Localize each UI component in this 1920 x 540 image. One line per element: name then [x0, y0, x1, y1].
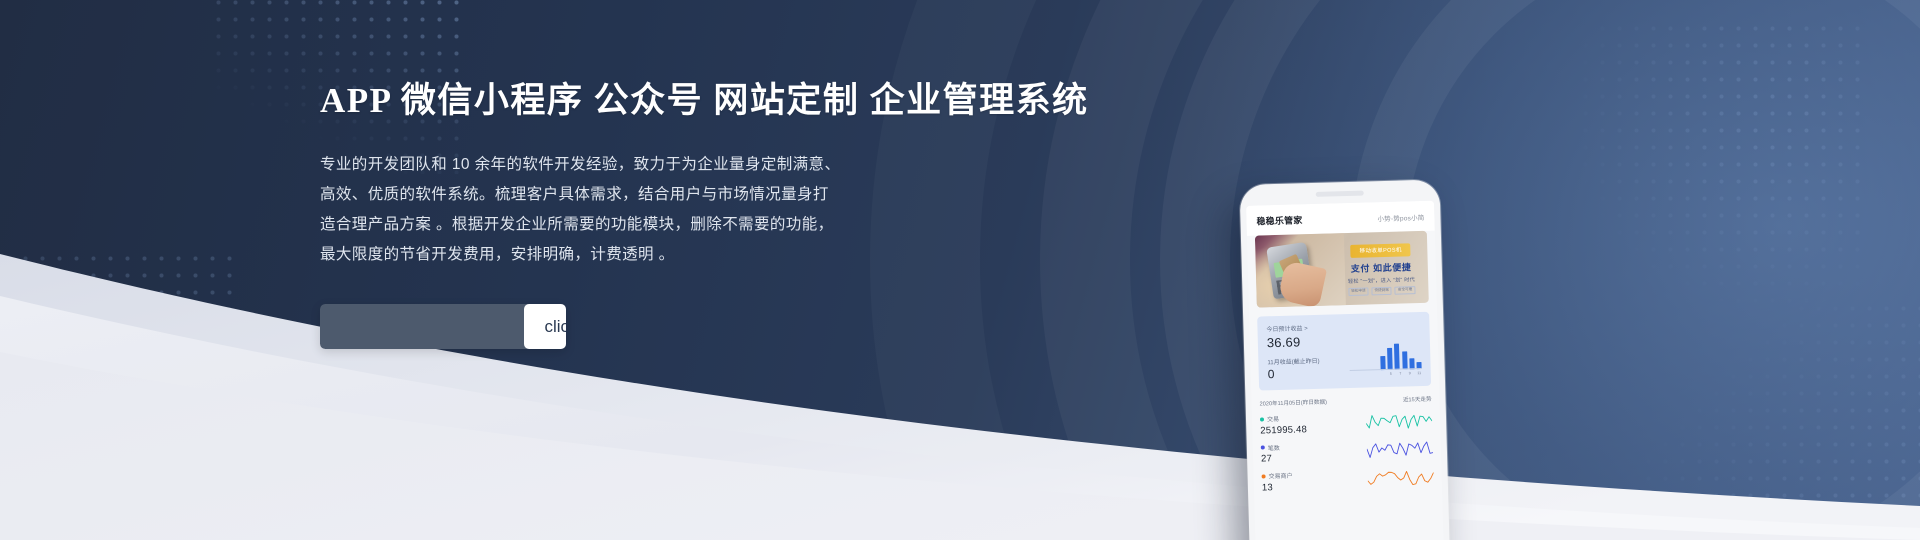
page-title: APP 微信小程序 公众号 网站定制 企业管理系统	[320, 72, 980, 123]
banner-subline: 轻松 "一划"，进入 "划" 时代	[1341, 275, 1423, 284]
stat-value: 27	[1261, 453, 1280, 465]
banner-chip: 轻松申请	[1348, 287, 1369, 296]
earnings-card[interactable]: 今日预计收益 > 36.69 11月收益(截止昨日) 0 57911	[1257, 312, 1431, 391]
stats-trend-label: 近15天走势	[1403, 395, 1432, 404]
chart-bar	[1387, 348, 1393, 370]
click-button[interactable]: click	[524, 304, 566, 349]
stat-dot-icon	[1262, 474, 1266, 478]
hero-description-line: 高效、优质的软件系统。梳理客户具体需求，结合用户与市场情况量身打	[320, 180, 980, 210]
stat-name: 交易商户	[1261, 471, 1292, 481]
stat-label: 交易商户	[1268, 471, 1292, 481]
banner-chip: 快捷到账	[1371, 286, 1392, 295]
hero-description-line: 最大限度的节省开发费用，安排明确，计费透明 。	[320, 240, 980, 270]
cta-row: click	[320, 304, 566, 349]
screen-fade-overlay	[1255, 520, 1444, 540]
stat-value: 13	[1262, 481, 1293, 493]
promo-banner[interactable]: 移动收单POS机 支付 如此便捷 轻松 "一划"，进入 "划" 时代 轻松申请 …	[1255, 231, 1429, 308]
stat-name: 交易	[1260, 413, 1307, 423]
stat-left: 交易商户13	[1261, 471, 1293, 493]
stat-left: 笔数27	[1261, 442, 1281, 464]
chart-x-axis: 57911	[1360, 370, 1422, 376]
sparkline	[1367, 439, 1434, 461]
banner-chip: 安全可靠	[1395, 286, 1416, 295]
banner-chip-list: 轻松申请 快捷到账 安全可靠	[1341, 285, 1423, 296]
hero-description-line: 专业的开发团队和 10 余年的软件开发经验，致力于为企业量身定制满意、	[320, 150, 980, 180]
earnings-bar-chart: 57911	[1359, 343, 1422, 379]
hero-banner: 稳稳乐管家 小势-势pos小简 移动收单POS机 支付 如此便捷	[0, 0, 1920, 540]
stat-row: 交易商户13	[1261, 467, 1434, 493]
chart-bar	[1394, 344, 1400, 370]
stat-row: 交易251995.48	[1260, 410, 1433, 436]
chart-tick-label: 9	[1407, 371, 1412, 375]
stats-header: 2020年11月05日(昨日数据) 近15天走势	[1259, 395, 1431, 408]
banner-headline: 支付 如此便捷	[1340, 259, 1422, 274]
phone-mockup: 稳稳乐管家 小势-势pos小简 移动收单POS机 支付 如此便捷	[1239, 179, 1460, 540]
hero-description-line: 造合理产品方案 。根据开发企业所需要的功能模块，删除不需要的功能，	[320, 210, 980, 240]
app-title: 稳稳乐管家	[1256, 213, 1302, 227]
sparkline	[1367, 467, 1434, 489]
stats-row-list: 交易251995.48笔数27交易商户13	[1260, 410, 1434, 493]
sparkline	[1366, 410, 1433, 432]
stat-value: 251995.48	[1260, 424, 1307, 436]
stat-dot-icon	[1261, 445, 1265, 449]
phone-speaker	[1316, 191, 1364, 197]
stat-dot-icon	[1260, 417, 1264, 421]
chart-bar	[1402, 351, 1408, 369]
chart-bars	[1359, 343, 1422, 371]
stat-label: 笔数	[1268, 442, 1280, 451]
chart-tick-label: 11	[1417, 370, 1422, 374]
hero-description: 专业的开发团队和 10 余年的软件开发经验，致力于为企业量身定制满意、高效、优质…	[320, 150, 980, 270]
stats-section: 2020年11月05日(昨日数据) 近15天走势 交易251995.48笔数27…	[1259, 395, 1434, 493]
stat-left: 交易251995.48	[1260, 413, 1307, 436]
stat-label: 交易	[1267, 414, 1279, 423]
banner-tag: 移动收单POS机	[1350, 243, 1411, 258]
search-input[interactable]	[320, 304, 529, 349]
chart-tick-label: 7	[1398, 371, 1403, 375]
banner-text-block: 移动收单POS机 支付 如此便捷 轻松 "一划"，进入 "划" 时代 轻松申请 …	[1337, 231, 1428, 305]
hand-illustration	[1277, 260, 1327, 307]
stat-row: 笔数27	[1261, 438, 1434, 464]
stat-name: 笔数	[1261, 442, 1280, 452]
chart-tick-label: 5	[1388, 371, 1393, 375]
hero-content: APP 微信小程序 公众号 网站定制 企业管理系统 专业的开发团队和 10 余年…	[320, 72, 980, 349]
banner-photo	[1255, 233, 1346, 307]
phone-body: 稳稳乐管家 小势-势pos小简 移动收单POS机 支付 如此便捷	[1239, 179, 1450, 540]
app-user-label: 小势-势pos小简	[1377, 212, 1424, 223]
phone-screen: 稳稳乐管家 小势-势pos小简 移动收单POS机 支付 如此便捷	[1246, 201, 1444, 540]
stats-date-label: 2020年11月05日(昨日数据)	[1259, 398, 1327, 408]
